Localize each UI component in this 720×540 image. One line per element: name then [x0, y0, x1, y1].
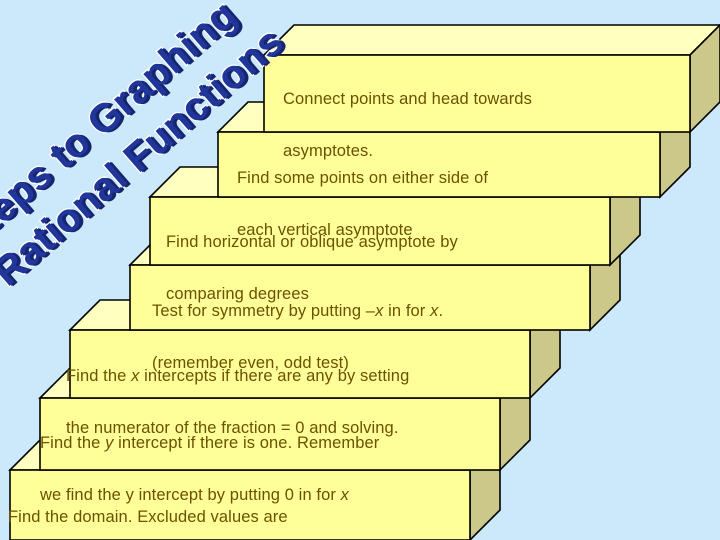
step-2-line-1: Find the y intercept if there is one. Re… — [40, 434, 379, 452]
step-2-text-post: intercept if there is one. Remember — [113, 434, 379, 452]
step-7-line-1: Connect points and head towards — [283, 90, 532, 108]
slide-canvas: Connect points and head towards asymptot… — [0, 0, 720, 540]
step-label-1-find-domain: Find the domain. Excluded values are whe… — [8, 478, 478, 540]
step-3-line-1: Find the x intercepts if there are any b… — [66, 367, 409, 385]
step-1-line-1: Find the domain. Excluded values are — [8, 508, 288, 526]
step-4-text-mid: in for — [383, 302, 430, 320]
step-3-text-pre: Find the — [66, 367, 131, 385]
step-4-text-post: . — [438, 302, 443, 320]
step-6-line-1: Find some points on either side of — [237, 169, 488, 187]
step-5-line-1: Find horizontal or oblique asymptote by — [166, 233, 458, 251]
step-4-text-pre: Test for symmetry by putting – — [152, 302, 375, 320]
step-4-line-1: Test for symmetry by putting –x in for x… — [152, 302, 443, 320]
step-2-text-pre: Find the — [40, 434, 105, 452]
step-3-text-post: intercepts if there are any by setting — [139, 367, 409, 385]
